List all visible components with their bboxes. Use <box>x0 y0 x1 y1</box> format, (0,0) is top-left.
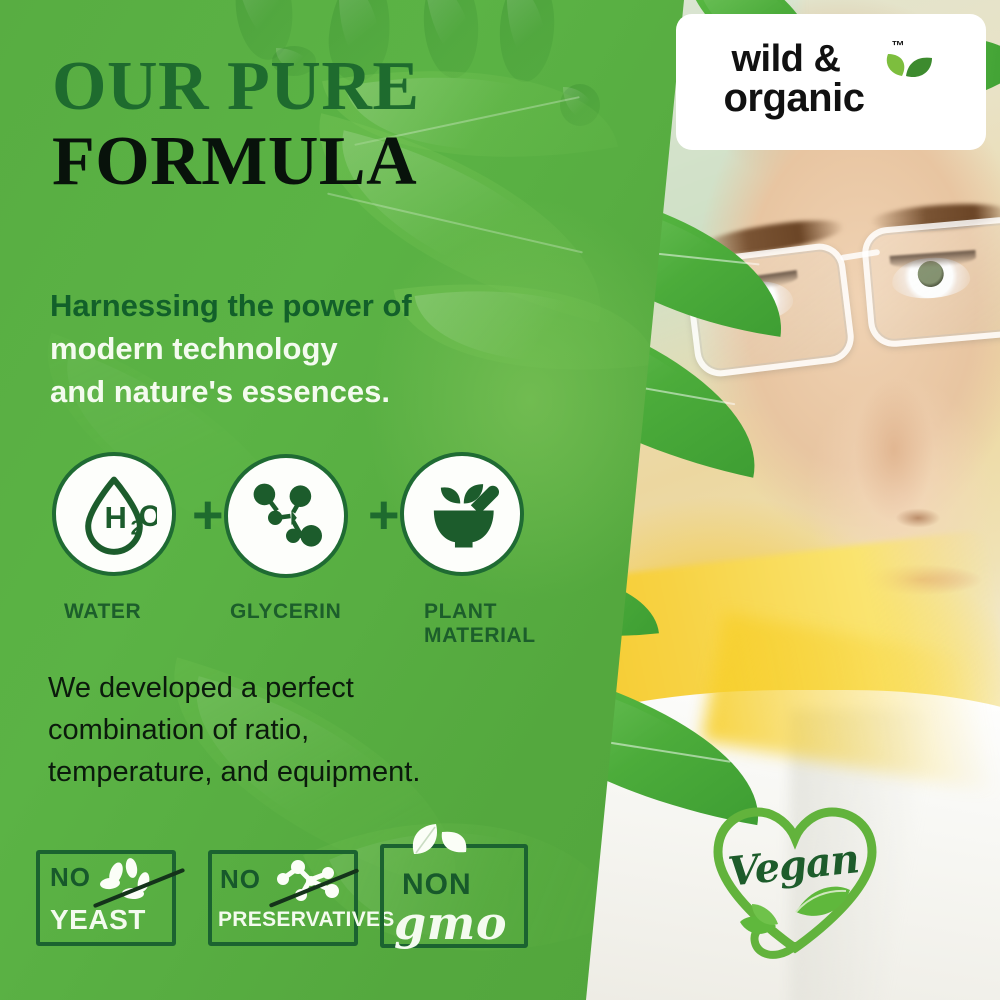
page-title: OUR PURE FORMULA <box>52 52 612 197</box>
mortar-pestle-icon <box>418 470 506 558</box>
ingredient-label-glycerin: GLYCERIN <box>230 600 341 624</box>
plus-sign-2: + <box>368 488 400 542</box>
subheading-line-3: and nature's essences. <box>50 371 570 414</box>
ingredient-icon-water: H 2 O <box>52 452 176 576</box>
ingredient-label-plant-line-1: PLANT <box>424 600 497 623</box>
headline-line-1: OUR PURE <box>52 52 612 121</box>
brand-logo[interactable]: wild & ™ organic <box>676 14 986 150</box>
body-line-1: We developed a perfect <box>48 672 354 704</box>
eyeglasses-lens-right <box>860 215 1000 349</box>
badge-no-yeast-label: YEAST <box>50 904 146 936</box>
body-copy: We developed a perfect combination of ra… <box>48 668 568 793</box>
svg-text:O: O <box>139 501 157 533</box>
ingredient-label-water: WATER <box>64 600 141 624</box>
svg-text:H: H <box>105 500 127 535</box>
yeast-crossed-out-icon <box>96 856 176 904</box>
molecule-icon <box>241 471 331 561</box>
badge-no-preservatives-label: PRESERVATIVES <box>218 908 395 932</box>
badge-no-yeast-prefix: NO <box>50 862 91 893</box>
trademark-symbol: ™ <box>892 38 905 53</box>
body-line-3: temperature, and equipment. <box>48 756 420 788</box>
ingredient-label-plant-material: PLANT MATERIAL <box>424 600 536 648</box>
leaves-icon <box>406 820 476 864</box>
vegan-badge: Vegan <box>700 800 890 960</box>
badge-no-preservatives: NO PR <box>208 850 358 946</box>
molecule-crossed-out-icon <box>268 856 352 906</box>
subheading-line-2: modern technology <box>50 328 570 371</box>
badge-no-preservatives-prefix: NO <box>220 864 261 895</box>
logo-line-2: organic <box>724 76 865 121</box>
plus-sign-1: + <box>192 488 224 542</box>
ingredient-label-plant-line-2: MATERIAL <box>424 624 536 647</box>
badge-non-gmo: NON gmo <box>380 844 528 948</box>
ingredient-icon-glycerin <box>224 454 348 578</box>
body-line-2: combination of ratio, <box>48 714 309 746</box>
subheading: Harnessing the power of modern technolog… <box>50 285 570 413</box>
ingredient-icon-plant-material <box>400 452 524 576</box>
logo-line-1: wild & <box>732 38 841 81</box>
badge-no-yeast: NO YEAST <box>36 850 176 946</box>
headline-line-2: FORMULA <box>52 127 612 196</box>
water-drop-icon: H 2 O <box>71 471 157 557</box>
subheading-line-1: Harnessing the power of <box>50 285 570 328</box>
yeast-cell-3 <box>99 877 120 890</box>
certification-badges: NO YEAST NO <box>36 842 556 962</box>
yeast-cell-2 <box>124 857 138 879</box>
nostril-region <box>888 505 948 531</box>
logo-wordmark: wild & ™ organic <box>724 36 939 128</box>
promo-graphic: OUR PURE FORMULA Harnessing the power of… <box>0 0 1000 1000</box>
ingredients-row: H 2 O + + <box>52 452 552 642</box>
leaf-icon <box>876 52 936 98</box>
badge-non-gmo-label: gmo <box>394 896 507 950</box>
